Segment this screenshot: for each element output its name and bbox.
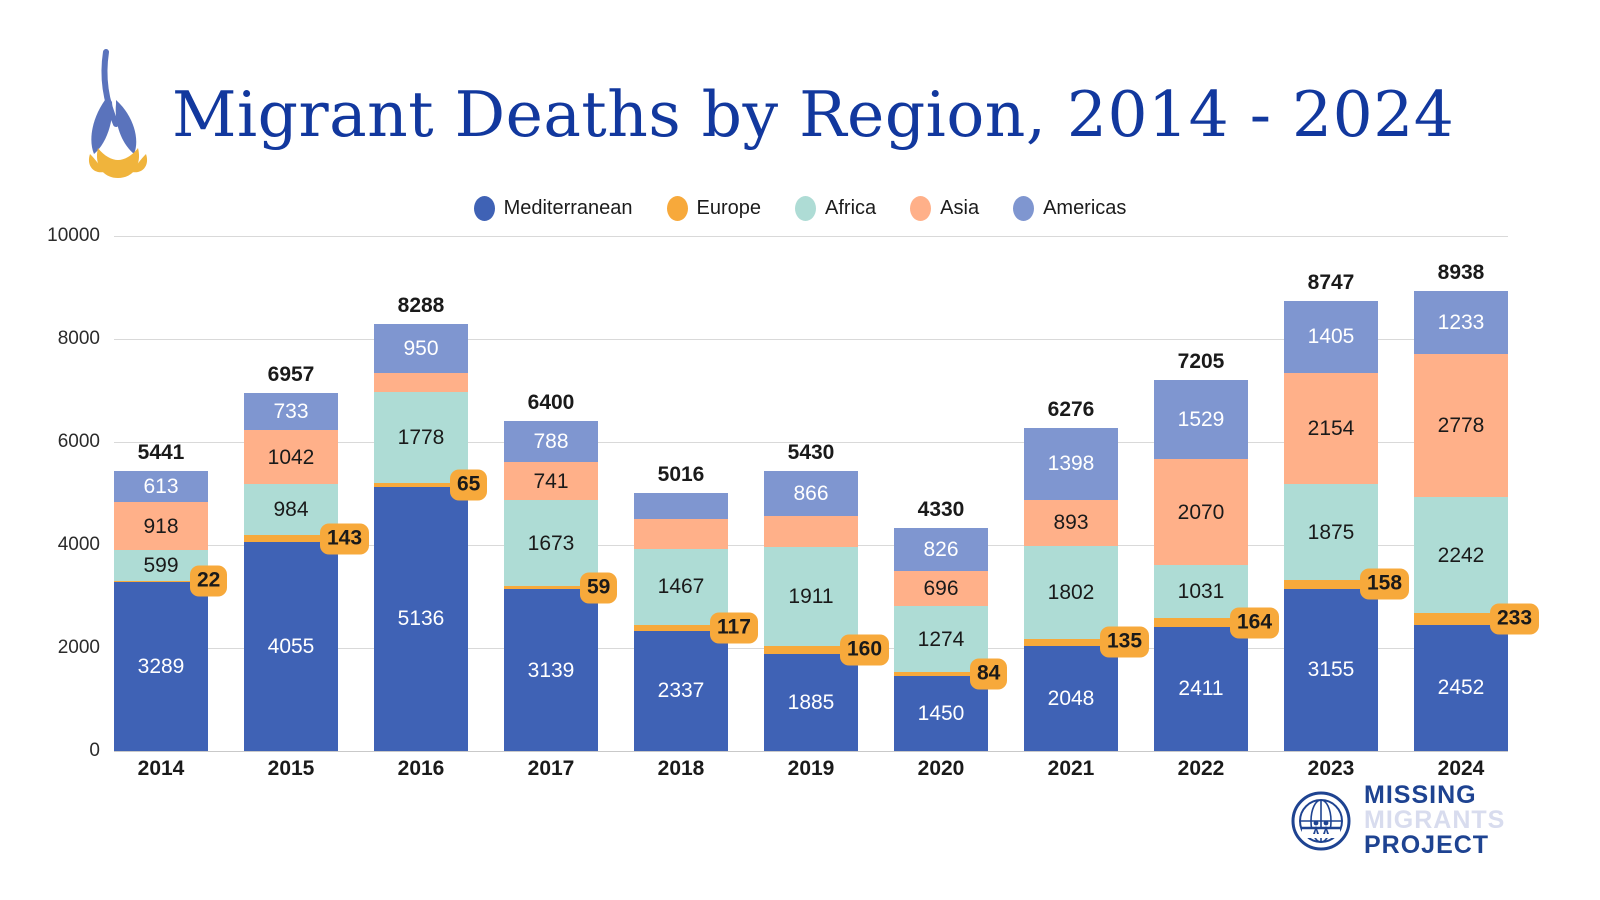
- x-axis-tick-2014: 2014: [114, 757, 208, 781]
- bar-column-2024[interactable]: 23324522242277812338938: [1414, 236, 1508, 751]
- bar-segment-value: 1802: [1048, 582, 1095, 603]
- y-axis-tick-label: 8000: [0, 328, 100, 350]
- bar-segment-value: 1529: [1178, 409, 1225, 430]
- brand-line-3: PROJECT: [1364, 833, 1505, 858]
- bar-segment-americas[interactable]: 1405: [1284, 301, 1378, 373]
- y-axis-tick-label: 0: [0, 740, 100, 762]
- stacked-bar[interactable]: 3289599918613: [114, 471, 208, 751]
- bar-column-2020[interactable]: 84145012746968264330: [894, 236, 988, 751]
- legend-swatch-icon: [667, 196, 688, 221]
- bar-segment-americas[interactable]: 1529: [1154, 380, 1248, 459]
- bar-segment-mediterranean[interactable]: 2452: [1414, 625, 1508, 751]
- legend-swatch-icon: [795, 196, 816, 221]
- bar-segment-africa[interactable]: 1802: [1024, 546, 1118, 639]
- chart-legend: MediterraneanEuropeAfricaAsiaAmericas: [0, 196, 1600, 221]
- x-axis-tick-2021: 2021: [1024, 757, 1118, 781]
- bar-segment-asia[interactable]: 1042: [244, 430, 338, 484]
- bar-segment-americas[interactable]: 1233: [1414, 291, 1508, 354]
- stacked-bar[interactable]: 3155187521541405: [1284, 301, 1378, 751]
- wilted-flower-icon: [72, 44, 164, 184]
- europe-value-callout-2019[interactable]: 160: [840, 634, 889, 665]
- bar-segment-mediterranean[interactable]: 3139: [504, 589, 598, 751]
- legend-item-americas[interactable]: Americas: [1013, 196, 1126, 221]
- bar-total-label: 6400: [504, 391, 598, 415]
- bar-column-2015[interactable]: 143405598410427336957: [244, 236, 338, 751]
- bar-segment-africa[interactable]: 1911: [764, 547, 858, 645]
- bar-group: 2232895999186135441143405598410427336957…: [114, 236, 1508, 751]
- legend-label: Americas: [1043, 197, 1126, 220]
- bar-column-2021[interactable]: 1352048180289313986276: [1024, 236, 1118, 751]
- bar-segment-value: 1405: [1308, 326, 1355, 347]
- bar-segment-americas[interactable]: 788: [504, 421, 598, 462]
- y-axis-tick-label: 6000: [0, 431, 100, 453]
- bar-segment-mediterranean[interactable]: 2411: [1154, 627, 1248, 751]
- bar-segment-value: 1911: [788, 586, 833, 607]
- bar-column-2019[interactable]: 160188519118665430: [764, 236, 858, 751]
- europe-value-callout-2022[interactable]: 164: [1230, 607, 1279, 638]
- bar-total-label: 5441: [114, 441, 208, 465]
- x-axis-tick-2020: 2020: [894, 757, 988, 781]
- bar-segment-value: 788: [533, 431, 568, 452]
- x-axis: 2014201520162017201820192020202120222023…: [114, 752, 1508, 786]
- europe-value-callout-2020[interactable]: 84: [970, 659, 1007, 690]
- bar-segment-value: 1274: [918, 629, 965, 650]
- europe-value-callout-2017[interactable]: 59: [580, 572, 617, 603]
- bar-segment-value: 1778: [398, 427, 445, 448]
- bar-segment-mediterranean[interactable]: 2048: [1024, 646, 1118, 751]
- x-axis-tick-2017: 2017: [504, 757, 598, 781]
- bar-segment-mediterranean[interactable]: 1885: [764, 654, 858, 751]
- brand-line-1: MISSING: [1364, 783, 1505, 808]
- europe-value-callout-2023[interactable]: 158: [1360, 569, 1409, 600]
- y-axis-tick-label: 4000: [0, 534, 100, 556]
- bar-segment-asia[interactable]: 893: [1024, 500, 1118, 546]
- bar-segment-asia[interactable]: 2070: [1154, 459, 1248, 566]
- stacked-bar[interactable]: 2452224227781233: [1414, 291, 1508, 751]
- bar-segment-value: 1467: [658, 576, 705, 597]
- bar-segment-americas[interactable]: 866: [764, 471, 858, 516]
- bar-total-label: 8938: [1414, 261, 1508, 285]
- bar-segment-value: 2242: [1438, 545, 1485, 566]
- bar-total-label: 8747: [1284, 271, 1378, 295]
- bar-segment-value: 5136: [398, 608, 445, 629]
- bar-segment-asia[interactable]: 918: [114, 502, 208, 549]
- bar-segment-asia[interactable]: 741: [504, 462, 598, 500]
- stacked-bar[interactable]: 14501274696826: [894, 528, 988, 751]
- bar-segment-value: 2154: [1308, 418, 1355, 439]
- bar-segment-value: 984: [273, 499, 308, 520]
- brand-logo: MISSING MIGRANTS PROJECT: [1290, 783, 1505, 858]
- bar-segment-value: 893: [1053, 512, 1088, 533]
- bar-segment-africa[interactable]: 2242: [1414, 497, 1508, 612]
- page-title: Migrant Deaths by Region, 2014 - 2024: [172, 78, 1454, 151]
- bar-total-label: 4330: [894, 498, 988, 522]
- bar-column-2016[interactable]: 65513617789508288: [374, 236, 468, 751]
- bar-total-label: 6276: [1024, 398, 1118, 422]
- legend-label: Asia: [940, 197, 979, 220]
- bar-segment-asia[interactable]: [374, 373, 468, 391]
- bar-segment-value: 599: [143, 555, 178, 576]
- bar-total-label: 8288: [374, 294, 468, 318]
- bar-segment-value: 1031: [1178, 581, 1225, 602]
- bar-segment-value: 826: [923, 539, 958, 560]
- bar-segment-value: 4055: [268, 636, 315, 657]
- stacked-bar[interactable]: 18851911866: [764, 471, 858, 751]
- bar-segment-value: 1673: [528, 533, 575, 554]
- stacked-bar[interactable]: 204818028931398: [1024, 428, 1118, 751]
- bar-segment-value: 1875: [1308, 522, 1355, 543]
- plot-area: 0200040006000800010000 22328959991861354…: [0, 236, 1600, 751]
- bar-total-label: 7205: [1154, 350, 1248, 374]
- y-axis-tick-label: 2000: [0, 637, 100, 659]
- bar-segment-value: 2337: [658, 680, 705, 701]
- bar-segment-mediterranean[interactable]: 3155: [1284, 589, 1378, 751]
- bar-segment-mediterranean[interactable]: 3289: [114, 582, 208, 751]
- bar-segment-value: 2452: [1438, 677, 1485, 698]
- x-axis-tick-2018: 2018: [634, 757, 728, 781]
- bar-segment-value: 613: [143, 476, 178, 497]
- europe-value-callout-2018[interactable]: 117: [710, 612, 758, 643]
- europe-value-callout-2016[interactable]: 65: [450, 469, 487, 500]
- legend-item-europe[interactable]: Europe: [667, 196, 762, 221]
- legend-swatch-icon: [910, 196, 931, 221]
- legend-item-asia[interactable]: Asia: [910, 196, 979, 221]
- bar-column-2022[interactable]: 16424111031207015297205: [1154, 236, 1248, 751]
- x-axis-tick-2019: 2019: [764, 757, 858, 781]
- bar-segment-value: 3155: [1308, 659, 1355, 680]
- x-axis-tick-2015: 2015: [244, 757, 338, 781]
- bar-segment-mediterranean[interactable]: 4055: [244, 542, 338, 751]
- bar-segment-asia[interactable]: 2778: [1414, 354, 1508, 497]
- bar-segment-value: 1233: [1438, 312, 1485, 333]
- europe-value-callout-2015[interactable]: 143: [320, 523, 369, 554]
- brand-line-2: MIGRANTS: [1364, 808, 1505, 833]
- bar-total-label: 6957: [244, 363, 338, 387]
- bar-column-2023[interactable]: 15831551875215414058747: [1284, 236, 1378, 751]
- x-axis-tick-2022: 2022: [1154, 757, 1248, 781]
- bar-segment-mediterranean[interactable]: 5136: [374, 487, 468, 752]
- europe-value-callout-2024[interactable]: 233: [1490, 603, 1539, 634]
- bar-segment-asia[interactable]: 2154: [1284, 373, 1378, 484]
- bar-segment-value: 1450: [918, 703, 965, 724]
- bar-segment-asia[interactable]: 696: [894, 571, 988, 607]
- x-axis-tick-2016: 2016: [374, 757, 468, 781]
- bar-segment-value: 1398: [1048, 453, 1095, 474]
- bar-segment-value: 696: [923, 578, 958, 599]
- bar-segment-americas[interactable]: 1398: [1024, 428, 1118, 500]
- legend-label: Africa: [825, 197, 876, 220]
- europe-value-callout-2014[interactable]: 22: [190, 566, 227, 597]
- globe-icon: [1290, 790, 1352, 852]
- x-axis-tick-2023: 2023: [1284, 757, 1378, 781]
- bar-segment-americas[interactable]: 613: [114, 471, 208, 503]
- legend-item-mediterranean[interactable]: Mediterranean: [474, 196, 633, 221]
- bar-segment-americas[interactable]: 950: [374, 324, 468, 373]
- bar-column-2014[interactable]: 2232895999186135441: [114, 236, 208, 751]
- bar-segment-value: 2048: [1048, 688, 1095, 709]
- legend-label: Mediterranean: [504, 197, 633, 220]
- bar-segment-asia[interactable]: [764, 516, 858, 547]
- y-axis-tick-label: 10000: [0, 225, 100, 247]
- bar-total-label: 5016: [634, 463, 728, 487]
- bar-segment-value: 2070: [1178, 502, 1225, 523]
- bar-segment-value: 866: [793, 483, 828, 504]
- bar-segment-americas[interactable]: 826: [894, 528, 988, 571]
- bar-column-2017[interactable]: 59313916737417886400: [504, 236, 598, 751]
- bar-segment-americas[interactable]: 733: [244, 393, 338, 431]
- bar-segment-value: 950: [403, 338, 438, 359]
- bar-segment-value: 1042: [268, 447, 315, 468]
- bar-segment-value: 918: [143, 516, 178, 537]
- bar-segment-africa[interactable]: 1875: [1284, 484, 1378, 581]
- chart-header: Migrant Deaths by Region, 2014 - 2024: [0, 0, 1600, 195]
- legend-label: Europe: [697, 197, 762, 220]
- legend-swatch-icon: [474, 196, 495, 221]
- bar-column-2018[interactable]: 117233714675016: [634, 236, 728, 751]
- bar-segment-value: 1885: [788, 692, 835, 713]
- bar-segment-mediterranean[interactable]: 2337: [634, 631, 728, 751]
- bar-segment-value: 3139: [528, 660, 575, 681]
- stacked-bar[interactable]: 40559841042733: [244, 393, 338, 751]
- bar-segment-value: 2411: [1178, 678, 1223, 699]
- bar-segment-value: 3289: [138, 656, 185, 677]
- stacked-bar[interactable]: 2411103120701529: [1154, 380, 1248, 751]
- bar-segment-value: 2778: [1438, 415, 1485, 436]
- bar-segment-value: 733: [273, 401, 308, 422]
- bar-segment-value: 741: [533, 471, 568, 492]
- europe-value-callout-2021[interactable]: 135: [1100, 627, 1149, 658]
- bar-segment-americas[interactable]: [634, 493, 728, 519]
- stacked-bar[interactable]: 51361778950: [374, 324, 468, 751]
- legend-item-africa[interactable]: Africa: [795, 196, 876, 221]
- chart-page: Migrant Deaths by Region, 2014 - 2024 Me…: [0, 0, 1600, 900]
- bar-segment-asia[interactable]: [634, 519, 728, 549]
- legend-swatch-icon: [1013, 196, 1034, 221]
- x-axis-tick-2024: 2024: [1414, 757, 1508, 781]
- bar-total-label: 5430: [764, 441, 858, 465]
